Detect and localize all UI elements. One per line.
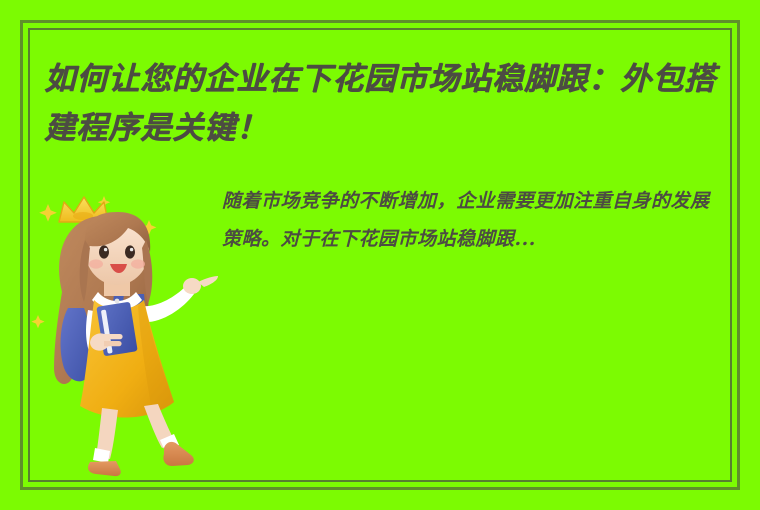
article-card: 如何让您的企业在下花园市场站稳脚跟：外包搭建程序是关键！ 随着市场竞争的不断增加…: [0, 0, 760, 510]
page-title: 如何让您的企业在下花园市场站稳脚跟：外包搭建程序是关键！: [44, 55, 734, 153]
girl-student-illustration: [28, 182, 224, 482]
hand-pointing: [183, 276, 218, 294]
eye-left: [99, 245, 109, 258]
blush-left: [89, 259, 103, 268]
blush-right: [131, 259, 145, 268]
shoe-right: [163, 442, 193, 466]
article-summary: 随着市场竞争的不断增加，企业需要更加注重自身的发展策略。对于在下花园市场站稳脚跟…: [222, 182, 722, 258]
eye-right: [125, 245, 135, 258]
shoe-left: [88, 461, 121, 476]
